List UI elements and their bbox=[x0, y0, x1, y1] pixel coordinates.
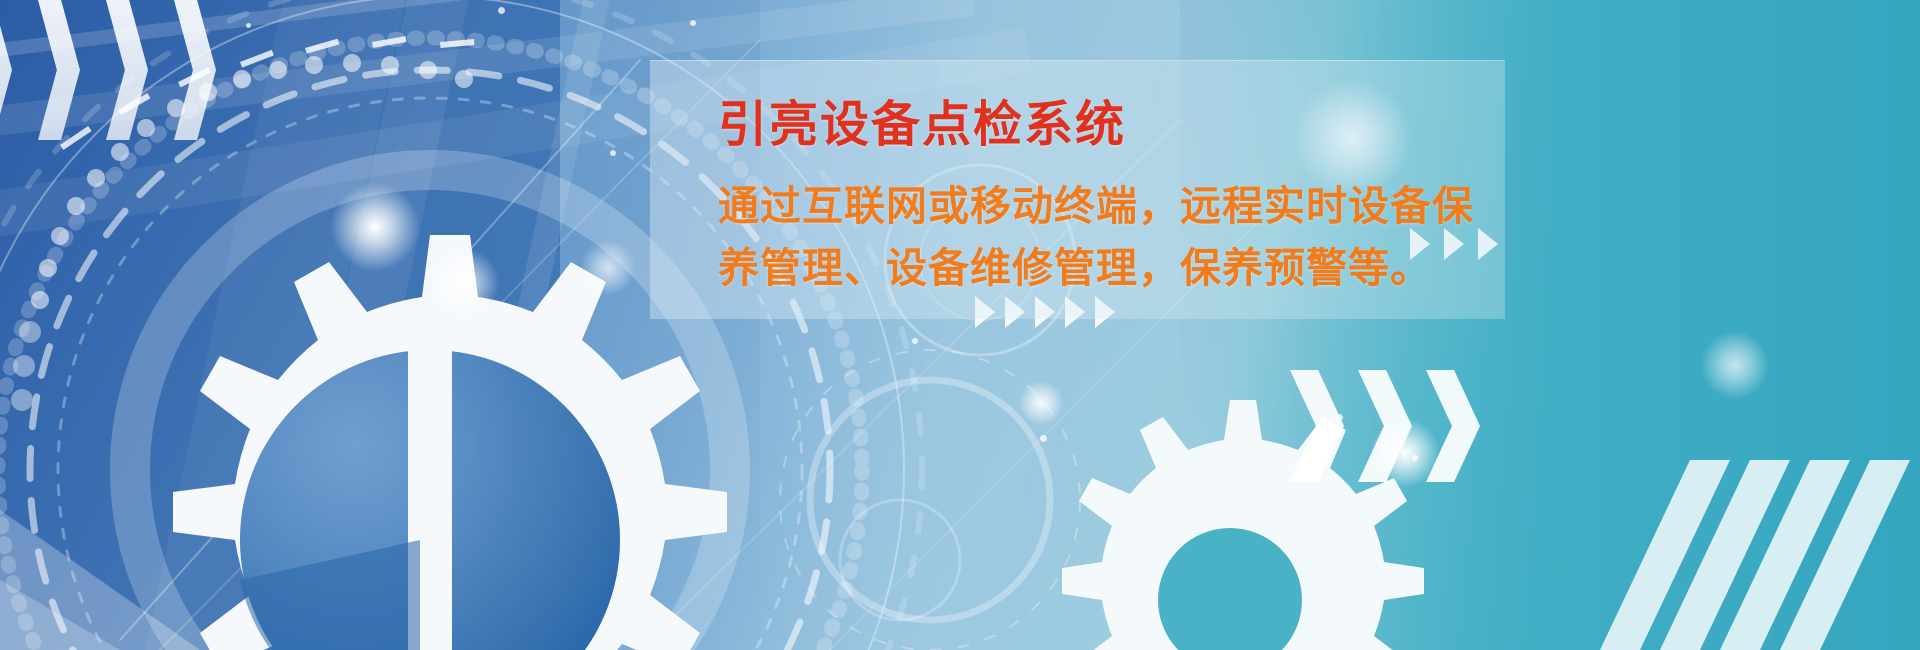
light-spark bbox=[430, 248, 500, 318]
chevron-right-icon bbox=[38, 0, 80, 140]
chevron-right-icon bbox=[174, 0, 216, 140]
light-dot bbox=[912, 338, 918, 344]
light-spark bbox=[1018, 380, 1064, 426]
light-dot bbox=[690, 20, 696, 26]
chevron-right-icon bbox=[0, 0, 12, 140]
light-spark bbox=[1370, 418, 1440, 488]
gear-icon bbox=[760, 330, 1100, 650]
banner-subtitle-line-2: 养管理、设备维修管理，保养预警等。 bbox=[718, 242, 1432, 294]
light-dot bbox=[1040, 435, 1047, 442]
light-dot bbox=[498, 7, 505, 14]
light-dot bbox=[1336, 414, 1343, 421]
promo-banner: 引亮设备点检系统 通过互联网或移动终端，远程实时设备保 养管理、设备维修管理，保… bbox=[0, 0, 1920, 650]
banner-subtitle-line-1: 通过互联网或移动终端，远程实时设备保 bbox=[718, 180, 1474, 232]
light-dot bbox=[610, 150, 616, 156]
light-dot bbox=[246, 23, 251, 28]
chevron-arrow-group bbox=[0, 0, 300, 145]
light-spark bbox=[580, 240, 636, 296]
light-spark bbox=[330, 182, 420, 272]
diagonal-stripe-group bbox=[1600, 460, 1920, 650]
light-dot bbox=[1412, 455, 1418, 461]
light-spark bbox=[1700, 330, 1770, 400]
light-wedge-decoration bbox=[0, 410, 260, 650]
chevron-right-icon bbox=[1290, 370, 1344, 482]
chevron-right-icon bbox=[106, 0, 148, 140]
banner-headline: 引亮设备点检系统 bbox=[718, 96, 1126, 154]
